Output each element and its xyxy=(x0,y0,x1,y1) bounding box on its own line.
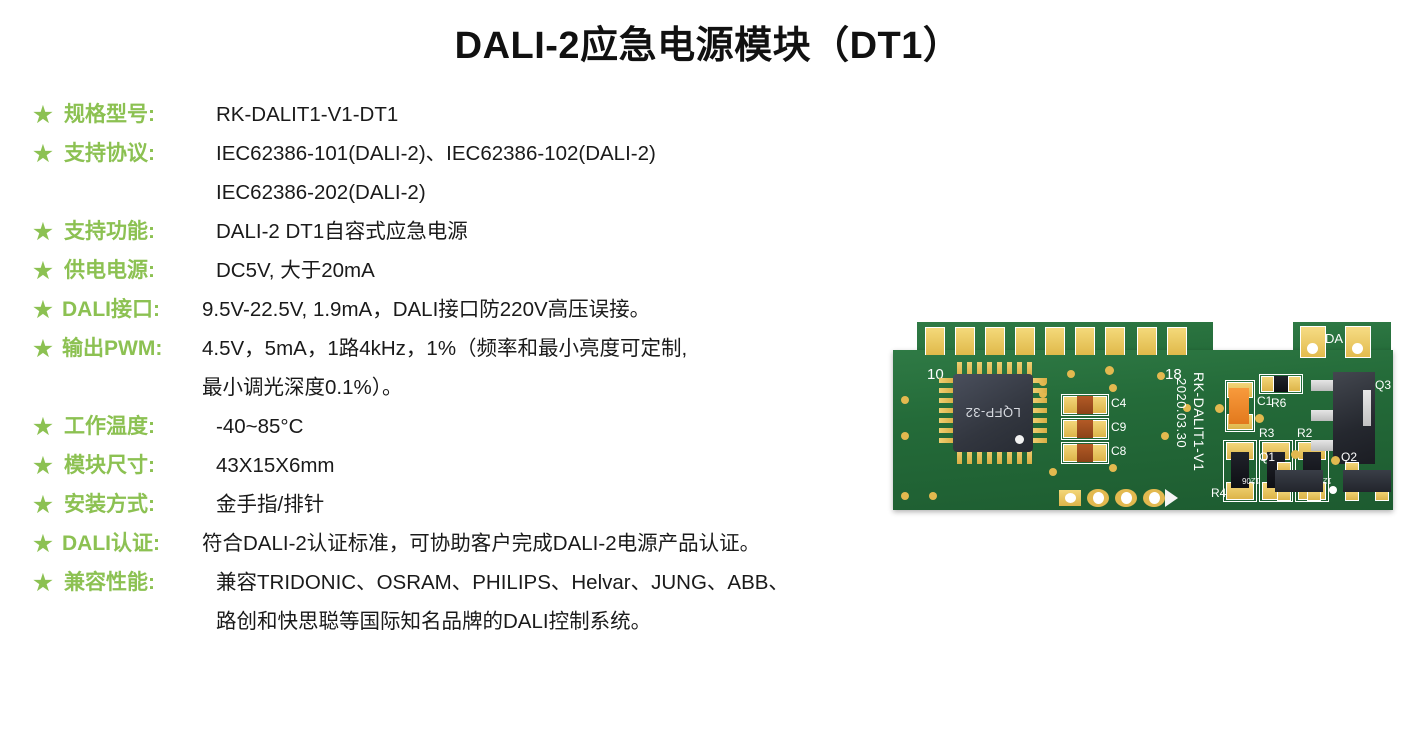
spec-value-line: 43X15X6mm xyxy=(216,451,908,481)
spec-value-model: RK-DALIT1-V1-DT1 xyxy=(216,100,908,130)
pcb-product-image: DA 10 18 xyxy=(893,322,1393,522)
pcb-part-number-silkscreen: RK-DALIT1-V1 xyxy=(1191,372,1207,471)
star-icon: ★ xyxy=(28,139,58,169)
r6-designator: R6 xyxy=(1271,396,1286,410)
star-icon: ★ xyxy=(28,217,58,247)
da-terminal-label: DA xyxy=(1325,331,1343,346)
c9-designator: C9 xyxy=(1111,420,1126,434)
spec-value-compatibility: 兼容TRIDONIC、OSRAM、PHILIPS、Helvar、JUNG、ABB… xyxy=(216,568,908,637)
gold-finger-pad xyxy=(1137,327,1157,355)
gold-finger-pad xyxy=(985,327,1005,355)
via xyxy=(1067,370,1075,378)
through-hole-round-bore xyxy=(1149,492,1160,504)
spec-label-compatibility: 兼容性能: xyxy=(64,568,216,598)
star-icon: ★ xyxy=(28,295,58,325)
spec-value-line: IEC62386-202(DALI-2) xyxy=(216,178,908,208)
via xyxy=(1255,414,1264,423)
via xyxy=(1157,372,1165,380)
c4-designator: C4 xyxy=(1111,396,1126,410)
q3-designator: Q3 xyxy=(1375,378,1391,392)
star-icon: ★ xyxy=(28,412,58,442)
r4-value-marking: 1206 xyxy=(1242,476,1260,485)
spec-value-line: -40~85°C xyxy=(216,412,908,442)
spec-value-line: 兼容TRIDONIC、OSRAM、PHILIPS、Helvar、JUNG、ABB… xyxy=(216,568,908,598)
spec-label-pwm-output: 输出PWM: xyxy=(62,334,202,364)
r2-designator: R2 xyxy=(1297,426,1312,440)
spec-value-line: RK-DALIT1-V1-DT1 xyxy=(216,100,908,130)
r6-pad-left xyxy=(1261,376,1274,392)
q3-lead xyxy=(1311,410,1335,421)
spec-row-temperature: ★ 工作温度: -40~85°C xyxy=(28,412,908,442)
spec-row-pwm-output: ★ 输出PWM: 4.5V，5mA，1路4kHz，1%（频率和最小亮度可定制, … xyxy=(28,334,908,403)
spec-label-model: 规格型号: xyxy=(64,100,216,130)
gold-finger-pad xyxy=(1105,327,1125,355)
spec-row-mounting: ★ 安装方式: 金手指/排针 xyxy=(28,490,908,520)
via xyxy=(1049,468,1057,476)
pcb-date-silkscreen: 2020.03.30 xyxy=(1174,378,1189,448)
page-title: DALI-2应急电源模块（DT1） xyxy=(0,14,1416,69)
spec-label-dali-interface: DALI接口: xyxy=(62,295,202,325)
spec-value-temperature: -40~85°C xyxy=(216,412,908,442)
via-plated xyxy=(1329,486,1337,494)
gold-finger-pad xyxy=(925,327,945,355)
spec-value-line: 9.5V-22.5V, 1.9mA，DALI接口防220V高压误接。 xyxy=(202,295,908,325)
spec-row-protocol: ★ 支持协议: IEC62386-101(DALI-2)、IEC62386-10… xyxy=(28,139,908,208)
spec-row-dimensions: ★ 模块尺寸: 43X15X6mm xyxy=(28,451,908,481)
via xyxy=(1331,456,1340,465)
c8-designator: C8 xyxy=(1111,444,1126,458)
via xyxy=(929,492,937,500)
via xyxy=(1291,450,1300,459)
spec-label-mounting: 安装方式: xyxy=(64,490,216,520)
chip-pin1-dot xyxy=(1015,435,1024,444)
via xyxy=(901,432,909,440)
spec-value-line: 最小调光深度0.1%）。 xyxy=(202,373,908,403)
spec-value-line: 4.5V，5mA，1路4kHz，1%（频率和最小亮度可定制, xyxy=(202,334,908,364)
q3-lead xyxy=(1311,380,1335,391)
lqfp-32-chip: LQFP-32 xyxy=(953,374,1033,452)
spec-row-model: ★ 规格型号: RK-DALIT1-V1-DT1 xyxy=(28,100,908,130)
spec-value-line: 符合DALI-2认证标准，可协助客户完成DALI-2电源产品认证。 xyxy=(202,529,908,559)
through-hole-round-bore xyxy=(1121,492,1132,504)
through-hole-square-bore xyxy=(1065,493,1076,503)
spec-label-function: 支持功能: xyxy=(64,217,216,247)
specification-list: ★ 规格型号: RK-DALIT1-V1-DT1 ★ 支持协议: IEC6238… xyxy=(28,100,908,646)
spec-value-mounting: 金手指/排针 xyxy=(216,490,908,520)
r4-designator: R4 xyxy=(1211,486,1226,500)
spec-value-line: DC5V, 大于20mA xyxy=(216,256,908,286)
spec-row-function: ★ 支持功能: DALI-2 DT1自容式应急电源 xyxy=(28,217,908,247)
via xyxy=(1161,432,1169,440)
da-terminal-hole xyxy=(1307,343,1318,354)
via xyxy=(1109,384,1117,392)
spec-value-power-supply: DC5V, 大于20mA xyxy=(216,256,908,286)
spec-value-function: DALI-2 DT1自容式应急电源 xyxy=(216,217,908,247)
through-hole-round-bore xyxy=(1093,492,1104,504)
c9-pad-right xyxy=(1091,420,1107,438)
spec-label-dimensions: 模块尺寸: xyxy=(64,451,216,481)
r3-designator: R3 xyxy=(1259,426,1274,440)
spec-value-dimensions: 43X15X6mm xyxy=(216,451,908,481)
gold-finger-pad xyxy=(955,327,975,355)
spec-value-pwm-output: 4.5V，5mA，1路4kHz，1%（频率和最小亮度可定制, 最小调光深度0.1… xyxy=(202,334,908,403)
spec-value-line: 路创和快思聪等国际知名品牌的DALI控制系统。 xyxy=(216,607,908,637)
gold-finger-pad xyxy=(1015,327,1035,355)
spec-value-line: DALI-2 DT1自容式应急电源 xyxy=(216,217,908,247)
via xyxy=(1215,404,1224,413)
via xyxy=(1109,464,1117,472)
r6-body xyxy=(1274,376,1288,392)
spec-row-compatibility: ★ 兼容性能: 兼容TRIDONIC、OSRAM、PHILIPS、Helvar、… xyxy=(28,568,908,637)
c4-body xyxy=(1077,396,1093,414)
spec-value-dali-interface: 9.5V-22.5V, 1.9mA，DALI接口防220V高压误接。 xyxy=(202,295,908,325)
q1-designator: Q1 xyxy=(1259,450,1275,464)
star-icon: ★ xyxy=(28,490,58,520)
spec-value-line: 金手指/排针 xyxy=(216,490,908,520)
gold-finger-pad xyxy=(1045,327,1065,355)
spec-value-certification: 符合DALI-2认证标准，可协助客户完成DALI-2电源产品认证。 xyxy=(202,529,908,559)
c8-body xyxy=(1077,444,1093,462)
gold-finger-pad xyxy=(1075,327,1095,355)
c1-body xyxy=(1229,388,1249,424)
c9-body xyxy=(1077,420,1093,438)
via xyxy=(901,396,909,404)
spec-row-certification: ★ DALI认证: 符合DALI-2认证标准，可协助客户完成DALI-2电源产品… xyxy=(28,529,908,559)
star-icon: ★ xyxy=(28,256,58,286)
spec-value-line: IEC62386-101(DALI-2)、IEC62386-102(DALI-2… xyxy=(216,139,908,169)
q3-pin1-stripe xyxy=(1363,390,1371,426)
spec-label-power-supply: 供电电源: xyxy=(64,256,216,286)
star-icon: ★ xyxy=(28,451,58,481)
spec-row-dali-interface: ★ DALI接口: 9.5V-22.5V, 1.9mA，DALI接口防220V高… xyxy=(28,295,908,325)
c8-pad-right xyxy=(1091,444,1107,462)
r6-pad-right xyxy=(1288,376,1301,392)
via xyxy=(1105,366,1114,375)
spec-row-power-supply: ★ 供电电源: DC5V, 大于20mA xyxy=(28,256,908,286)
c4-pad-right xyxy=(1091,396,1107,414)
q2-package xyxy=(1343,470,1391,492)
star-icon: ★ xyxy=(28,529,58,559)
via xyxy=(901,492,909,500)
spec-label-temperature: 工作温度: xyxy=(64,412,216,442)
gold-finger-pad xyxy=(1167,327,1187,355)
da-terminal-hole xyxy=(1352,343,1363,354)
star-icon: ★ xyxy=(28,100,58,130)
q1-package xyxy=(1275,470,1323,492)
spec-label-protocol: 支持协议: xyxy=(64,139,216,169)
spec-label-certification: DALI认证: xyxy=(62,529,202,559)
star-icon: ★ xyxy=(28,334,58,364)
star-icon: ★ xyxy=(28,568,58,598)
spec-value-protocol: IEC62386-101(DALI-2)、IEC62386-102(DALI-2… xyxy=(216,139,908,208)
polarity-triangle-marker xyxy=(1165,489,1178,507)
q3-lead xyxy=(1311,440,1335,451)
